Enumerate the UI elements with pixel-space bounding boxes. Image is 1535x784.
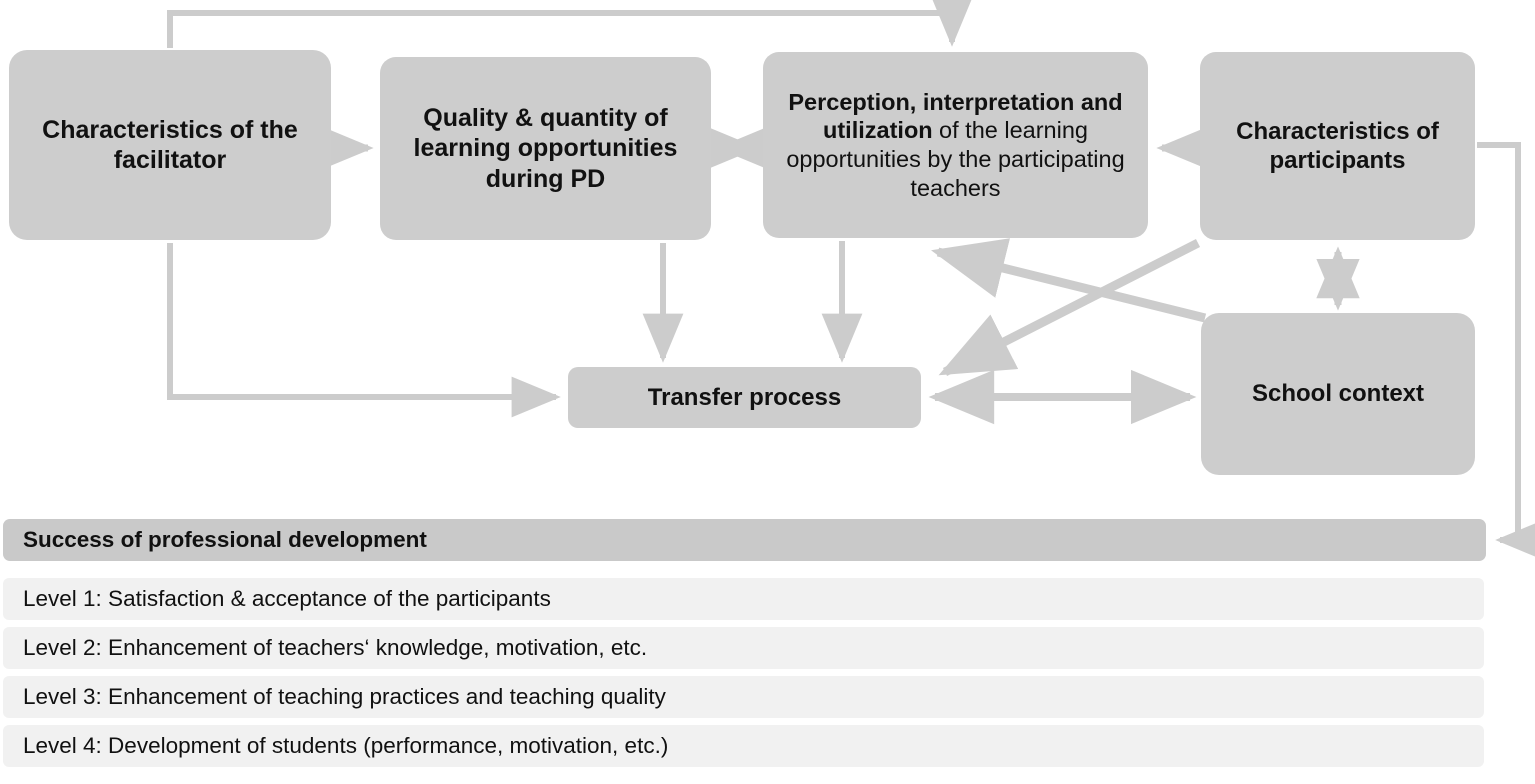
- wire-facilitator-to-transfer: [170, 243, 556, 397]
- node-transfer-process[interactable]: Transfer process: [568, 367, 921, 428]
- node-characteristics-of-participants[interactable]: Characteristics of participants: [1200, 52, 1475, 240]
- diagram-canvas: Characteristics of the facilitator Quali…: [0, 0, 1535, 784]
- node-label: Quality & quantity of learning opportuni…: [390, 103, 701, 195]
- level-bar-1: Level 1: Satisfaction & acceptance of th…: [3, 578, 1484, 620]
- node-label: Transfer process: [578, 383, 911, 412]
- wire-facilitator-to-perception: [170, 13, 952, 48]
- wire-school-to-perception: [938, 252, 1205, 318]
- level-label: Level 2: Enhancement of teachers‘ knowle…: [23, 635, 647, 661]
- node-perception-interpretation-utilization[interactable]: Perception, interpretation and utilizati…: [763, 52, 1148, 238]
- node-label-group: Perception, interpretation and utilizati…: [771, 88, 1140, 203]
- success-header-bar: Success of professional development: [3, 519, 1486, 561]
- wire-participants-to-transfer: [945, 243, 1198, 372]
- level-label: Level 3: Enhancement of teaching practic…: [23, 684, 666, 710]
- level-bar-4: Level 4: Development of students (perfor…: [3, 725, 1484, 767]
- success-header-label: Success of professional development: [23, 527, 427, 553]
- node-label: School context: [1211, 379, 1465, 408]
- level-label: Level 1: Satisfaction & acceptance of th…: [23, 586, 551, 612]
- level-bar-3: Level 3: Enhancement of teaching practic…: [3, 676, 1484, 718]
- node-characteristics-of-facilitator[interactable]: Characteristics of the facilitator: [9, 50, 331, 240]
- node-quality-quantity-learning-opportunities[interactable]: Quality & quantity of learning opportuni…: [380, 57, 711, 240]
- level-bar-2: Level 2: Enhancement of teachers‘ knowle…: [3, 627, 1484, 669]
- wire-participants-to-success: [1477, 145, 1518, 540]
- node-label: Characteristics of the facilitator: [19, 115, 321, 176]
- node-label: Characteristics of participants: [1210, 117, 1465, 176]
- node-school-context[interactable]: School context: [1201, 313, 1475, 475]
- level-label: Level 4: Development of students (perfor…: [23, 733, 668, 759]
